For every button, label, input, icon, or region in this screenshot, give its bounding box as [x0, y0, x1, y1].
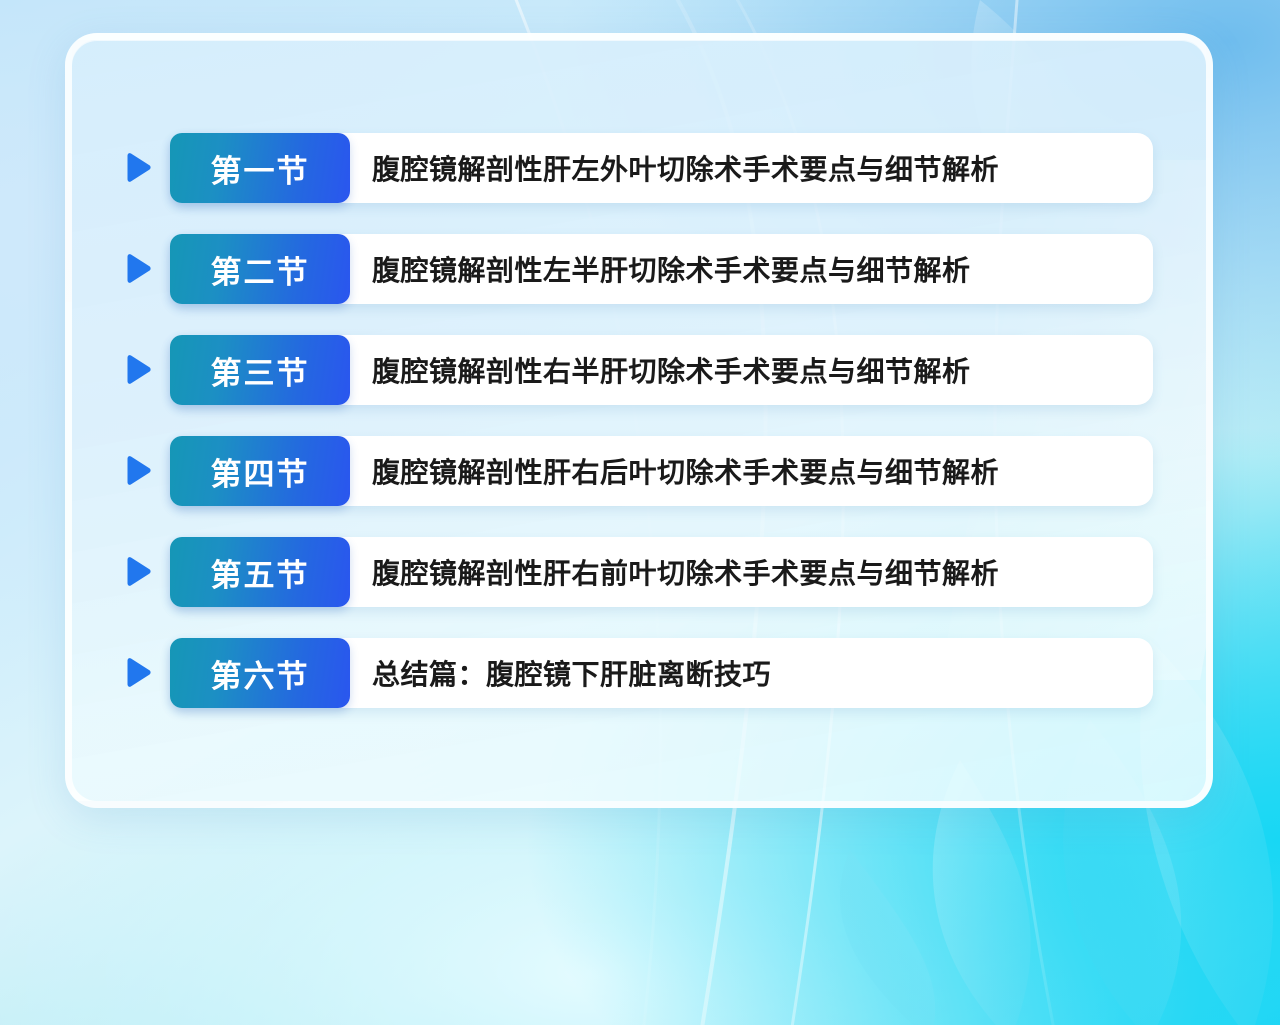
list-item[interactable]: 第二节 腹腔镜解剖性左半肝切除术手术要点与细节解析: [116, 234, 1206, 304]
play-triangle-icon[interactable]: [120, 454, 154, 488]
list-item[interactable]: 第三节 腹腔镜解剖性右半肝切除术手术要点与细节解析: [116, 335, 1206, 405]
play-triangle-icon[interactable]: [120, 151, 154, 185]
play-triangle-icon[interactable]: [120, 555, 154, 589]
play-triangle-icon[interactable]: [120, 353, 154, 387]
list-item[interactable]: 第五节 腹腔镜解剖性肝右前叶切除术手术要点与细节解析: [116, 537, 1206, 607]
list-item-body[interactable]: 第二节 腹腔镜解剖性左半肝切除术手术要点与细节解析: [170, 234, 1153, 304]
chapter-badge: 第四节: [170, 436, 350, 506]
list-item-body[interactable]: 第一节 腹腔镜解剖性肝左外叶切除术手术要点与细节解析: [170, 133, 1153, 203]
chapter-title: 总结篇：腹腔镜下肝脏离断技巧: [350, 653, 1153, 693]
chapter-badge: 第一节: [170, 133, 350, 203]
chapter-badge: 第三节: [170, 335, 350, 405]
list-item-body[interactable]: 第三节 腹腔镜解剖性右半肝切除术手术要点与细节解析: [170, 335, 1153, 405]
chapter-title: 腹腔镜解剖性右半肝切除术手术要点与细节解析: [350, 350, 1153, 390]
list-item[interactable]: 第四节 腹腔镜解剖性肝右后叶切除术手术要点与细节解析: [116, 436, 1206, 506]
chapter-badge: 第五节: [170, 537, 350, 607]
list-item-body[interactable]: 第五节 腹腔镜解剖性肝右前叶切除术手术要点与细节解析: [170, 537, 1153, 607]
chapter-title: 腹腔镜解剖性左半肝切除术手术要点与细节解析: [350, 249, 1153, 289]
list-item[interactable]: 第一节 腹腔镜解剖性肝左外叶切除术手术要点与细节解析: [116, 133, 1206, 203]
chapter-title: 腹腔镜解剖性肝右前叶切除术手术要点与细节解析: [350, 552, 1153, 592]
play-triangle-icon[interactable]: [120, 656, 154, 690]
chapter-badge: 第二节: [170, 234, 350, 304]
list-item-body[interactable]: 第六节 总结篇：腹腔镜下肝脏离断技巧: [170, 638, 1153, 708]
play-triangle-icon[interactable]: [120, 252, 154, 286]
list-item-body[interactable]: 第四节 腹腔镜解剖性肝右后叶切除术手术要点与细节解析: [170, 436, 1153, 506]
content-card: 第一节 腹腔镜解剖性肝左外叶切除术手术要点与细节解析 第二节 腹腔镜解剖性左半肝…: [65, 33, 1213, 808]
chapter-title: 腹腔镜解剖性肝左外叶切除术手术要点与细节解析: [350, 148, 1153, 188]
page-root: 第一节 腹腔镜解剖性肝左外叶切除术手术要点与细节解析 第二节 腹腔镜解剖性左半肝…: [0, 0, 1280, 1025]
chapter-title: 腹腔镜解剖性肝右后叶切除术手术要点与细节解析: [350, 451, 1153, 491]
list-item[interactable]: 第六节 总结篇：腹腔镜下肝脏离断技巧: [116, 638, 1206, 708]
chapter-list: 第一节 腹腔镜解剖性肝左外叶切除术手术要点与细节解析 第二节 腹腔镜解剖性左半肝…: [116, 133, 1206, 708]
chapter-badge: 第六节: [170, 638, 350, 708]
